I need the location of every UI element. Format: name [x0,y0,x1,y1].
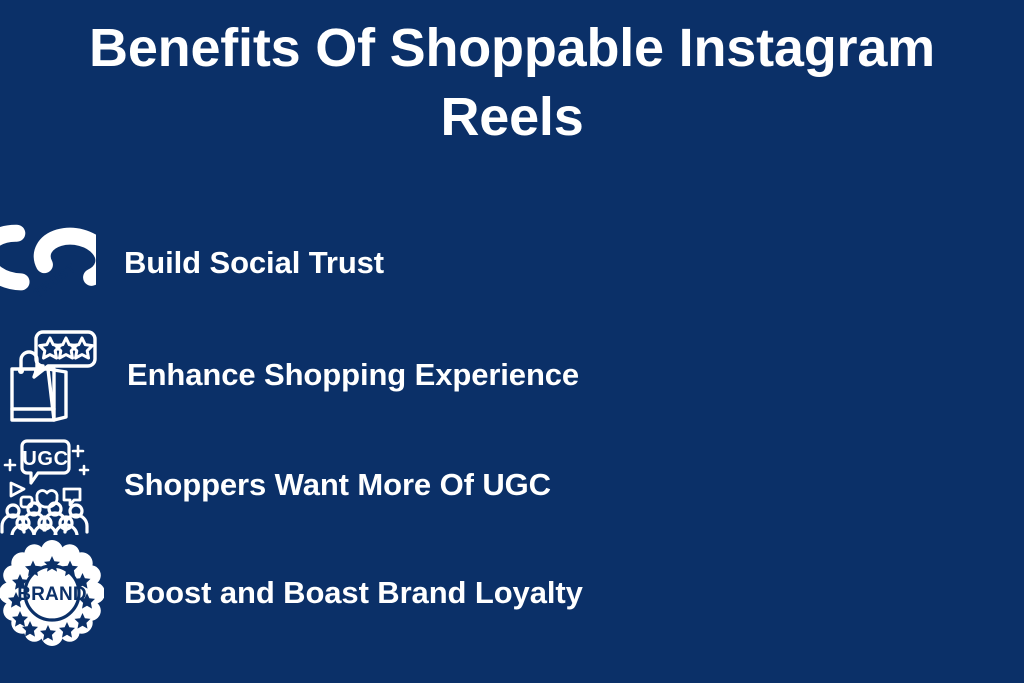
benefit-label: Shoppers Want More Of UGC [124,467,551,503]
benefit-item-enhance-shopping-experience: Enhance Shopping Experience [0,325,1024,425]
ugc-bubble-label: UGC [22,448,68,470]
page-title: Benefits Of Shoppable Instagram Reels [0,14,1024,152]
page-title-line-1: Benefits Of Shoppable Instagram [52,14,972,83]
benefit-label: Boost and Boast Brand Loyalty [124,575,583,611]
ugc-crowd-speech-bubble-icon: UGC [0,435,96,535]
infographic-slide: Benefits Of Shoppable Instagram Reels TR… [0,0,1024,683]
trust-chain-links-icon: TRUST [0,213,96,313]
page-title-line-2: Reels [52,83,972,152]
brand-badge-label: BRAND [17,584,87,605]
benefit-item-build-social-trust: TRUST Build Social Trust [0,213,1024,313]
benefit-item-shoppers-want-more-ugc: UGC [0,435,1024,535]
shopping-bag-star-review-icon [4,325,100,425]
brand-loyalty-badge-icon: BRAND [0,538,104,648]
benefit-item-boost-brand-loyalty: BRAND Boost and Boast Brand Loyalty [0,538,1024,648]
benefit-label: Build Social Trust [124,245,384,281]
benefit-label: Enhance Shopping Experience [127,357,579,393]
